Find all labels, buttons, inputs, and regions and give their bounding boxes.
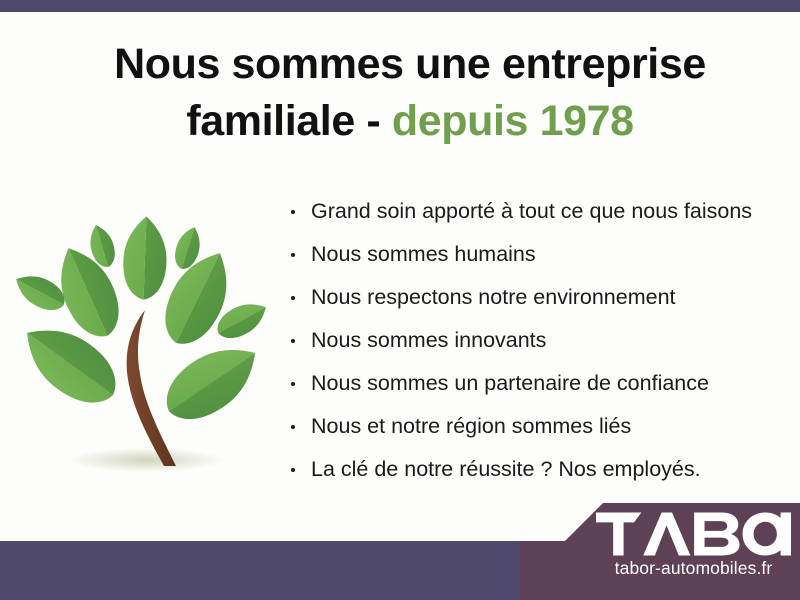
- list-item: Nous et notre région sommes liés: [286, 405, 786, 448]
- tabor-wordmark-icon: [596, 512, 791, 556]
- brand-logo: tabor-automobiles.fr: [596, 512, 791, 590]
- headline-line-1: Nous sommes une entreprise: [114, 40, 706, 88]
- top-accent-band: [0, 0, 800, 12]
- slide-canvas: Nous sommes une entreprise familiale - d…: [0, 0, 800, 600]
- list-item: Nous sommes innovants: [286, 319, 786, 362]
- tree-shadow: [68, 448, 224, 472]
- list-item: Nous sommes humains: [286, 233, 786, 276]
- headline-line-2-accent: depuis 1978: [392, 97, 634, 145]
- list-item: La clé de notre réussite ? Nos employés.: [286, 448, 786, 491]
- slide-headline: Nous sommes une entreprise familiale - d…: [60, 36, 760, 150]
- tree-illustration: [14, 196, 270, 488]
- brand-url: tabor-automobiles.fr: [596, 557, 791, 579]
- list-item: Nous respectons notre environnement: [286, 276, 786, 319]
- value-list: Grand soin apporté à tout ce que nous fa…: [286, 190, 786, 491]
- headline-line-2-plain: familiale -: [186, 97, 380, 145]
- list-item: Nous sommes un partenaire de confiance: [286, 362, 786, 405]
- list-item: Grand soin apporté à tout ce que nous fa…: [286, 190, 786, 233]
